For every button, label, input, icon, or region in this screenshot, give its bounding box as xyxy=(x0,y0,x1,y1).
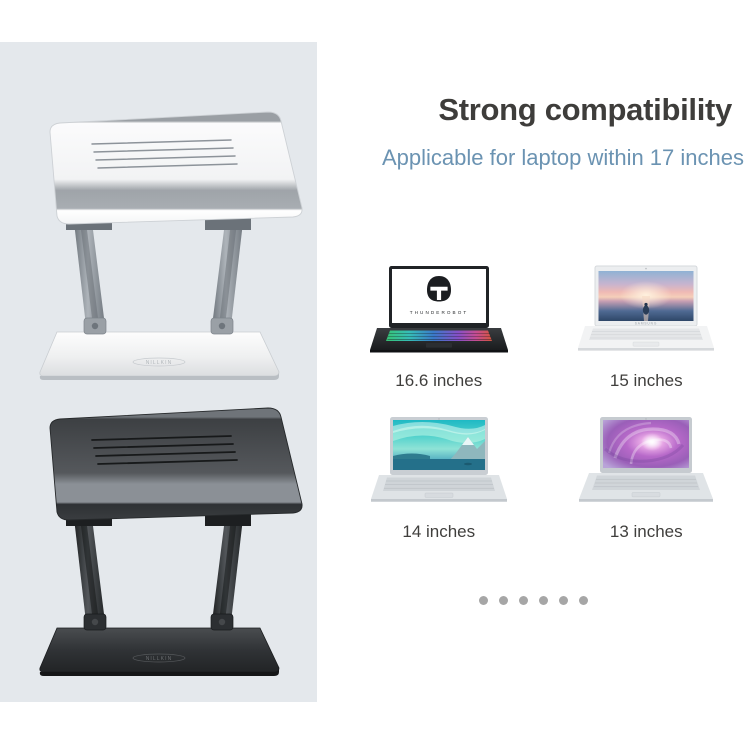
content-section: Strong compatibility Applicable for lapt… xyxy=(317,0,750,750)
pagination-dot[interactable] xyxy=(519,596,528,605)
laptop-silver-purple-image xyxy=(571,409,721,514)
svg-text:SAMSUNG: SAMSUNG xyxy=(635,321,657,325)
product-photo-black-stand: NILLKIN xyxy=(0,400,317,690)
laptop-item-13: 13 inches xyxy=(543,409,750,542)
pagination-dot[interactable] xyxy=(539,596,548,605)
laptop-item-14: 14 inches xyxy=(335,409,543,542)
stand-tray xyxy=(50,408,302,520)
laptop-caption-14: 14 inches xyxy=(402,522,475,542)
pagination-dot[interactable] xyxy=(479,596,488,605)
laptop-caption-16-6: 16.6 inches xyxy=(395,371,482,391)
svg-text:NILLKIN: NILLKIN xyxy=(146,656,173,662)
stand-arm-right xyxy=(211,222,243,334)
laptop-item-15: SAMSUNG 15 inches xyxy=(543,258,750,391)
pagination-dot[interactable] xyxy=(559,596,568,605)
svg-text:NILLKIN: NILLKIN xyxy=(146,360,173,366)
pagination-dot[interactable] xyxy=(499,596,508,605)
laptop-caption-13: 13 inches xyxy=(610,522,683,542)
stand-arm-right xyxy=(211,518,243,630)
laptop-white-samsung-image: SAMSUNG xyxy=(571,258,721,363)
svg-text:THUNDEROBOT: THUNDEROBOT xyxy=(409,310,468,315)
page-title: Strong compatibility xyxy=(317,92,732,128)
laptop-silver-aurora-image xyxy=(364,409,514,514)
stand-arm-left xyxy=(74,222,106,334)
laptop-compatibility-grid: THUNDEROBOT 16.6 inches xyxy=(335,258,750,542)
page-subtitle: Applicable for laptop within 17 inches xyxy=(317,145,744,171)
stand-arm-left xyxy=(74,518,106,630)
product-image-panel: NILLKIN xyxy=(0,42,317,702)
laptop-item-16-6: THUNDEROBOT 16.6 inches xyxy=(335,258,543,391)
pagination-dot[interactable] xyxy=(579,596,588,605)
stand-base: NILLKIN xyxy=(40,628,279,676)
stand-base: NILLKIN xyxy=(40,332,279,380)
product-photo-silver-stand: NILLKIN xyxy=(0,104,317,394)
laptop-gaming-black-image: THUNDEROBOT xyxy=(364,258,514,363)
thunderobot-logo xyxy=(427,276,451,302)
laptop-caption-15: 15 inches xyxy=(610,371,683,391)
stand-tray xyxy=(50,112,302,224)
carousel-pagination[interactable] xyxy=(317,596,750,605)
